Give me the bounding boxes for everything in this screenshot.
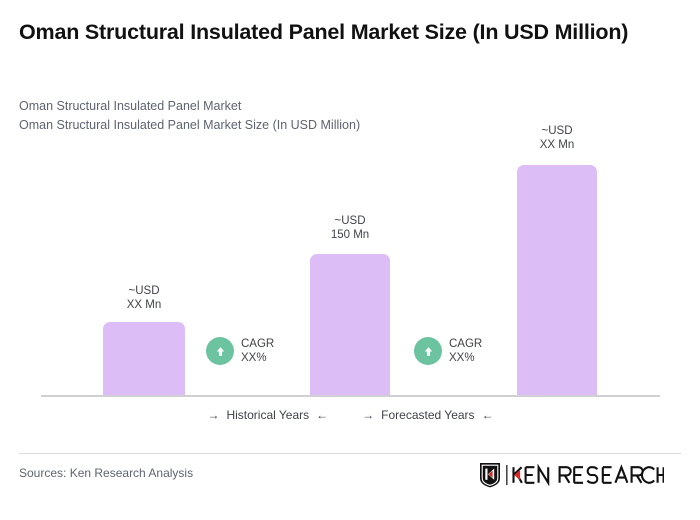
arrow-right-icon: → <box>207 409 219 421</box>
arrow-right-icon: → <box>362 409 374 421</box>
x-axis-line <box>41 395 660 397</box>
bar-value-label-3-line1: ~USD <box>542 125 573 137</box>
cagr-marker-1: CAGR XX% <box>206 337 274 366</box>
bar-value-label-1-line2: XX Mn <box>127 299 162 311</box>
bar-value-label-3-line2: XX Mn <box>540 139 575 151</box>
footer-divider <box>19 453 681 454</box>
period-forecasted-label: Forecasted Years <box>381 408 474 422</box>
ken-research-wordmark <box>506 464 664 491</box>
bar-value-label-2-line1: ~USD <box>335 215 366 227</box>
cagr-label-2: CAGR XX% <box>449 337 482 366</box>
bar-value-label-1-line1: ~USD <box>129 285 160 297</box>
arrow-up-icon <box>206 337 234 365</box>
ken-research-logo <box>479 462 664 493</box>
bar-1[interactable] <box>103 322 185 396</box>
period-legend: → Historical Years ← → Forecasted Years … <box>41 408 660 422</box>
period-historical-label: Historical Years <box>226 408 309 422</box>
period-forecasted: → Forecasted Years ← <box>362 408 493 422</box>
bar-value-label-2-line2: 150 Mn <box>331 229 369 241</box>
arrow-left-icon: ← <box>482 409 494 421</box>
cagr-label-1: CAGR XX% <box>241 337 274 366</box>
period-historical: → Historical Years ← <box>207 408 328 422</box>
cagr-label-1-line1: CAGR <box>241 338 274 350</box>
cagr-marker-2: CAGR XX% <box>414 337 482 366</box>
chart-page: Oman Structural Insulated Panel Market S… <box>0 0 700 520</box>
bar-3[interactable] <box>517 165 597 396</box>
arrow-up-icon <box>414 337 442 365</box>
cagr-label-2-line2: XX% <box>449 352 475 364</box>
bar-chart: ~USD XX Mn CAGR XX% ~USD 150 Mn <box>0 0 700 440</box>
ken-research-shield-icon <box>479 462 501 493</box>
arrow-left-icon: ← <box>316 409 328 421</box>
cagr-label-1-line2: XX% <box>241 352 267 364</box>
bar-value-label-3: ~USD XX Mn <box>516 124 598 152</box>
bar-2[interactable] <box>310 254 390 396</box>
sources-text: Sources: Ken Research Analysis <box>19 466 193 480</box>
bar-value-label-1: ~USD XX Mn <box>103 284 185 312</box>
bar-value-label-2: ~USD 150 Mn <box>309 214 391 242</box>
cagr-label-2-line1: CAGR <box>449 338 482 350</box>
